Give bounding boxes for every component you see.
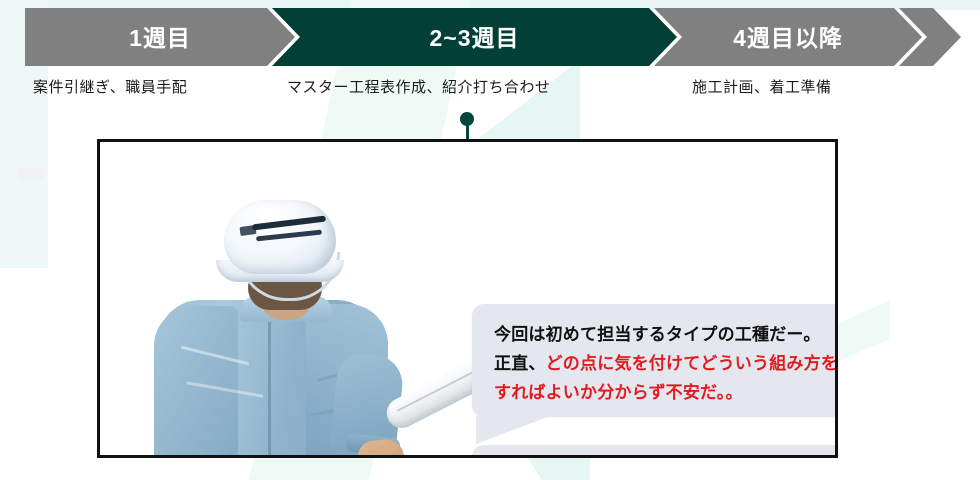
worker-back-seam: [268, 322, 271, 456]
speech-bubble-1-tail: [476, 416, 550, 444]
watermark-dot: [18, 168, 44, 180]
ribbon-step-3[interactable]: 4週目以降: [654, 8, 922, 66]
worker-photo: [120, 140, 450, 455]
ribbon-step-2[interactable]: 2~3週目: [272, 8, 677, 66]
ribbon-step-2-label: 2~3週目: [429, 19, 519, 53]
ribbon-caption-1: 案件引継ぎ、職員手配: [33, 76, 187, 97]
speech-bubble-1: 今回は初めて担当するタイプの工種だー。正直、どの点に気を付けてどういう組み方をす…: [472, 304, 838, 417]
speech-bubble-2: 過去に自社でも同様の工事やってるはずなんだけどなー。せめてその時の工程表を参考に…: [472, 445, 838, 458]
ribbon-caption-3: 施工計画、着工準備: [692, 76, 832, 97]
ribbon-step-1[interactable]: 1週目: [25, 8, 295, 66]
photo-frame: 今回は初めて担当するタイプの工種だー。正直、どの点に気を付けてどういう組み方をす…: [97, 139, 838, 458]
speech-bubble-1-text: 今回は初めて担当するタイプの工種だー。正直、どの点に気を付けてどういう組み方をす…: [494, 320, 838, 407]
worker-shoulder-left: [154, 306, 238, 456]
process-ribbon: 1週目 2~3週目 4週目以降: [0, 8, 980, 66]
ribbon-step-3-label: 4週目以降: [733, 19, 843, 53]
ribbon-step-1-label: 1週目: [129, 19, 191, 53]
slide-canvas: 1週目 2~3週目 4週目以降 案件引継ぎ、職員手配 マスター工程表作成、紹介打…: [0, 0, 980, 480]
ribbon-caption-2: マスター工程表作成、紹介打ち合わせ: [287, 76, 551, 97]
